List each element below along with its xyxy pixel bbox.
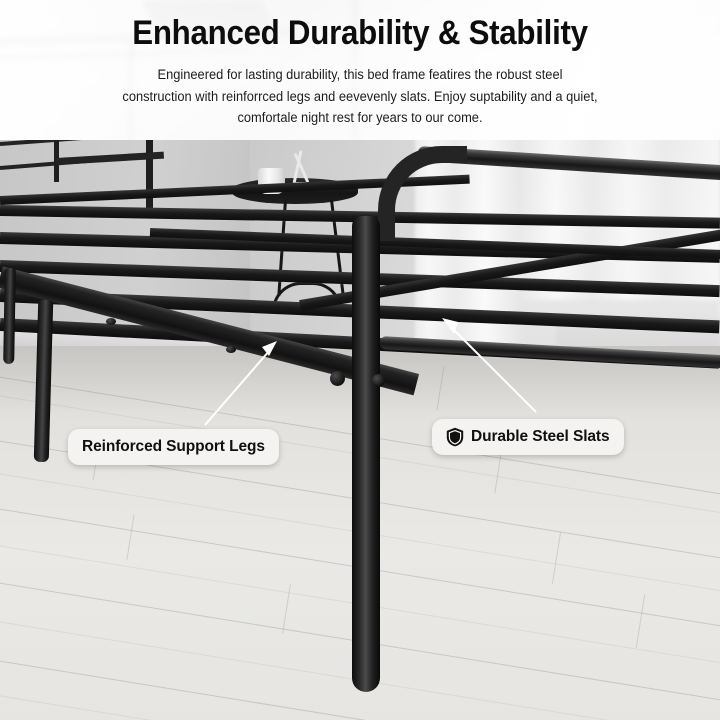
callout-durable-steel-slats[interactable]: Durable Steel Slats bbox=[432, 419, 624, 455]
product-feature-image: Enhanced Durability & Stability Engineer… bbox=[0, 0, 720, 720]
shield-icon bbox=[446, 427, 464, 447]
callout-arrow-slats bbox=[0, 0, 720, 720]
callout-label: Durable Steel Slats bbox=[471, 428, 610, 446]
callout-label: Reinforced Support Legs bbox=[82, 438, 265, 456]
callout-reinforced-support-legs[interactable]: Reinforced Support Legs bbox=[68, 429, 279, 465]
